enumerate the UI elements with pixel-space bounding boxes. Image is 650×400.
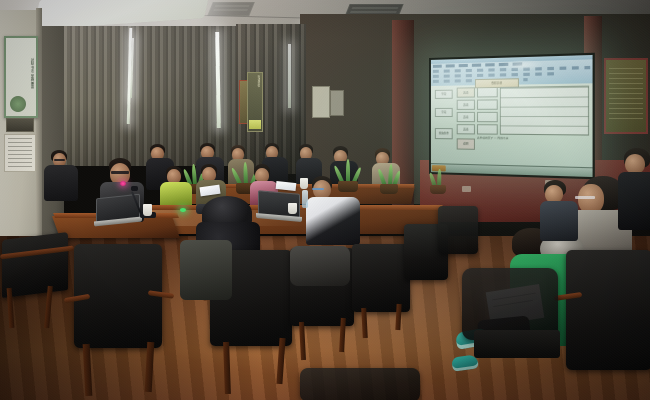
screen-option-box (477, 87, 498, 98)
screen-option-box (477, 99, 498, 109)
attendee-teal-sneakers (290, 246, 350, 286)
screen-data-grid (500, 86, 589, 136)
projection-screen: 字段 字段 查询条件 选项 选项 选项 选项 说明 数据表格 表单说明文字 — … (429, 53, 595, 180)
notice-sheet (4, 134, 36, 172)
screen-note-text: 表单说明文字 — 内容不清 (477, 137, 588, 151)
screen-field-label: 字段 (435, 90, 453, 99)
screen-option-box: 说明 (457, 138, 475, 149)
water-bottle (302, 190, 308, 208)
potted-plant (430, 172, 446, 194)
screen-option-box: 选项 (457, 124, 475, 134)
mic-indicator-led (180, 208, 186, 212)
wall-poster (604, 58, 648, 134)
chair-occupied[interactable] (566, 250, 650, 370)
calligraphy-scroll: 对联书法 室雅兼香 (4, 36, 38, 118)
potted-plant (380, 168, 398, 194)
chair-empty[interactable] (2, 232, 68, 298)
attendee-left-seated (180, 240, 232, 300)
screen-field-label: 查询条件 (435, 128, 453, 139)
screen-option-box (477, 124, 498, 134)
photo-conference-room: 标语横幅 对联书法 室雅兼香 字段 字段 查询条件 (0, 0, 650, 400)
scroll-seal-icon (10, 96, 26, 112)
screen-option-box (477, 112, 498, 122)
banner-text: 标语横幅 (250, 75, 260, 115)
wall-poster (330, 90, 344, 116)
screen-toolbar-row (433, 72, 555, 78)
screen-option-box: 选项 (457, 100, 475, 110)
wall-poster (312, 86, 330, 118)
microphone (131, 186, 138, 191)
window-strip-light (288, 44, 291, 108)
chair-seat (474, 330, 560, 358)
screen-option-box: 选项 (457, 112, 475, 122)
scroll-text: 对联书法 室雅兼香 (10, 41, 34, 89)
paper-cup (288, 203, 297, 214)
chair-occupied[interactable] (352, 244, 410, 312)
paper-cup (300, 178, 308, 189)
projected-desktop: 字段 字段 查询条件 选项 选项 选项 选项 说明 数据表格 表单说明文字 — … (431, 55, 593, 177)
speech-highlight (120, 181, 126, 186)
notice-lines (8, 138, 32, 168)
poster-lines (609, 68, 643, 120)
chair-empty[interactable] (438, 206, 478, 254)
wall-plaque (6, 118, 34, 132)
screen-workspace: 字段 字段 查询条件 选项 选项 选项 选项 说明 数据表格 表单说明文字 — … (431, 83, 593, 168)
screen-field-label: 字段 (435, 108, 453, 117)
wall-socket (462, 186, 471, 192)
chair-foreground[interactable] (300, 368, 420, 400)
paper-cup (143, 204, 152, 216)
vertical-banner: 标语横幅 (247, 72, 263, 132)
potted-plant (338, 164, 358, 192)
screen-option-box: 选项 (457, 87, 475, 97)
banner-footer (249, 120, 261, 129)
